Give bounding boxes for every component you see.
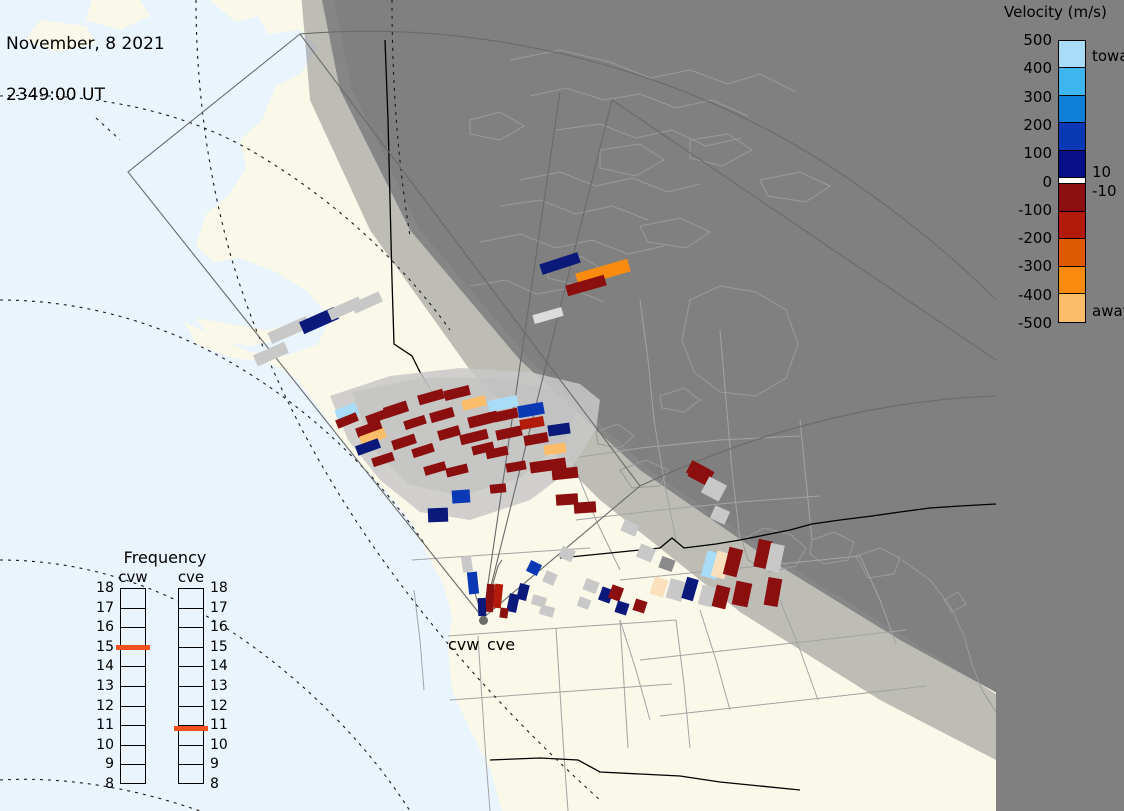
colorbar-tick: -200 — [1018, 229, 1052, 247]
frequency-scale-cell — [179, 746, 203, 766]
frequency-scale-cell — [121, 765, 145, 785]
colorbar-segment — [1059, 41, 1085, 68]
velocity-cell-toward[interactable] — [478, 598, 487, 616]
frequency-tick: 10 — [90, 737, 114, 753]
frequency-tick: 17 — [210, 600, 234, 616]
colorbar-segment — [1059, 151, 1085, 178]
timestamp-time: 2349:00 UT — [6, 87, 165, 104]
frequency-scale-cell — [121, 648, 145, 668]
frequency-tick: 17 — [90, 600, 114, 616]
colorbar-away-label: away — [1092, 302, 1124, 320]
site-label-cve: cve — [487, 635, 515, 654]
colorbar-lower-threshold-label: -10 — [1092, 182, 1117, 200]
frequency-scale-cell — [121, 609, 145, 629]
colorbar-tick: 300 — [1023, 88, 1052, 106]
timestamp-date: November, 8 2021 — [6, 36, 165, 53]
frequency-tick: 9 — [210, 756, 234, 772]
frequency-scale-cell — [121, 589, 145, 609]
frequency-tick: 18 — [90, 580, 114, 596]
frequency-bar-cvw[interactable] — [120, 588, 146, 784]
colorbar-segment — [1059, 267, 1085, 294]
colorbar-segment — [1059, 239, 1085, 266]
colorbar-tick: -400 — [1018, 286, 1052, 304]
colorbar-segment — [1059, 96, 1085, 123]
velocity-cell-away[interactable] — [499, 607, 508, 618]
frequency-tick: 10 — [210, 737, 234, 753]
frequency-scale-cell — [179, 707, 203, 727]
frequency-tick: 13 — [210, 678, 234, 694]
velocity-cell-toward[interactable] — [452, 489, 471, 503]
colorbar-tick: 400 — [1023, 59, 1052, 77]
velocity-cell-away[interactable] — [490, 483, 507, 494]
frequency-marker-cvw — [116, 645, 150, 650]
colorbar-tick: 0 — [1042, 173, 1052, 191]
frequency-column-label-cve: cve — [168, 568, 214, 586]
frequency-tick: 14 — [90, 658, 114, 674]
colorbar-segment — [1059, 212, 1085, 239]
frequency-bar-cve[interactable] — [178, 588, 204, 784]
frequency-tick: 8 — [210, 776, 234, 792]
frequency-tick: 12 — [210, 698, 234, 714]
colorbar-tick: -300 — [1018, 257, 1052, 275]
frequency-tick: 18 — [210, 580, 234, 596]
frequency-scale-cell — [179, 589, 203, 609]
radar-site-marker[interactable] — [479, 616, 488, 625]
colorbar-title: Velocity (m/s) — [1004, 3, 1107, 21]
colorbar-toward-label: toward — [1092, 47, 1124, 65]
colorbar-segment — [1059, 68, 1085, 95]
frequency-scale-cell — [179, 765, 203, 785]
frequency-scale-cell — [179, 667, 203, 687]
frequency-title: Frequency — [110, 548, 220, 567]
velocity-cell-away[interactable] — [574, 501, 597, 514]
colorbar-tick: 500 — [1023, 31, 1052, 49]
frequency-scale-cell — [121, 746, 145, 766]
frequency-tick: 8 — [90, 776, 114, 792]
colorbar-segment — [1059, 123, 1085, 150]
site-label-cvw: cvw — [448, 635, 479, 654]
frequency-tick: 15 — [90, 639, 114, 655]
frequency-scale-cell — [121, 707, 145, 727]
frequency-column-label-cvw: cvw — [110, 568, 156, 586]
colorbar-upper-threshold-label: 10 — [1092, 163, 1111, 181]
frequency-scale-cell — [179, 648, 203, 668]
frequency-marker-cve — [174, 726, 208, 731]
frequency-scale-cell — [179, 687, 203, 707]
frequency-scale-cell — [121, 687, 145, 707]
colorbar-tick: 200 — [1023, 116, 1052, 134]
colorbar-segment — [1059, 294, 1085, 321]
frequency-tick: 16 — [90, 619, 114, 635]
velocity-colorbar-panel: Velocity (m/s) 5004003002001000-100-200-… — [996, 0, 1124, 811]
velocity-cell-toward[interactable] — [428, 508, 448, 523]
timestamp-block: November, 8 2021 2349:00 UT — [6, 2, 165, 138]
frequency-scale-cell — [121, 726, 145, 746]
frequency-tick: 14 — [210, 658, 234, 674]
colorbar-tick: -100 — [1018, 201, 1052, 219]
frequency-tick: 16 — [210, 619, 234, 635]
frequency-tick: 9 — [90, 756, 114, 772]
frequency-legend: Frequency cvw cve 18171615141312111098 1… — [88, 548, 238, 794]
colorbar-gradient[interactable] — [1058, 40, 1086, 323]
map-panel[interactable]: cvw cve November, 8 2021 2349:00 UT Freq… — [0, 0, 996, 811]
frequency-tick: 15 — [210, 639, 234, 655]
frequency-tick: 11 — [210, 717, 234, 733]
frequency-tick: 12 — [90, 698, 114, 714]
frequency-tick: 11 — [90, 717, 114, 733]
colorbar-segment — [1059, 184, 1085, 211]
frequency-scale-cell — [179, 609, 203, 629]
frequency-scale-cell — [121, 667, 145, 687]
frequency-tick: 13 — [90, 678, 114, 694]
superdarn-velocity-map: cvw cve November, 8 2021 2349:00 UT Freq… — [0, 0, 1124, 811]
colorbar-tick: 100 — [1023, 144, 1052, 162]
colorbar-tick: -500 — [1018, 314, 1052, 332]
frequency-scale-cell — [179, 628, 203, 648]
